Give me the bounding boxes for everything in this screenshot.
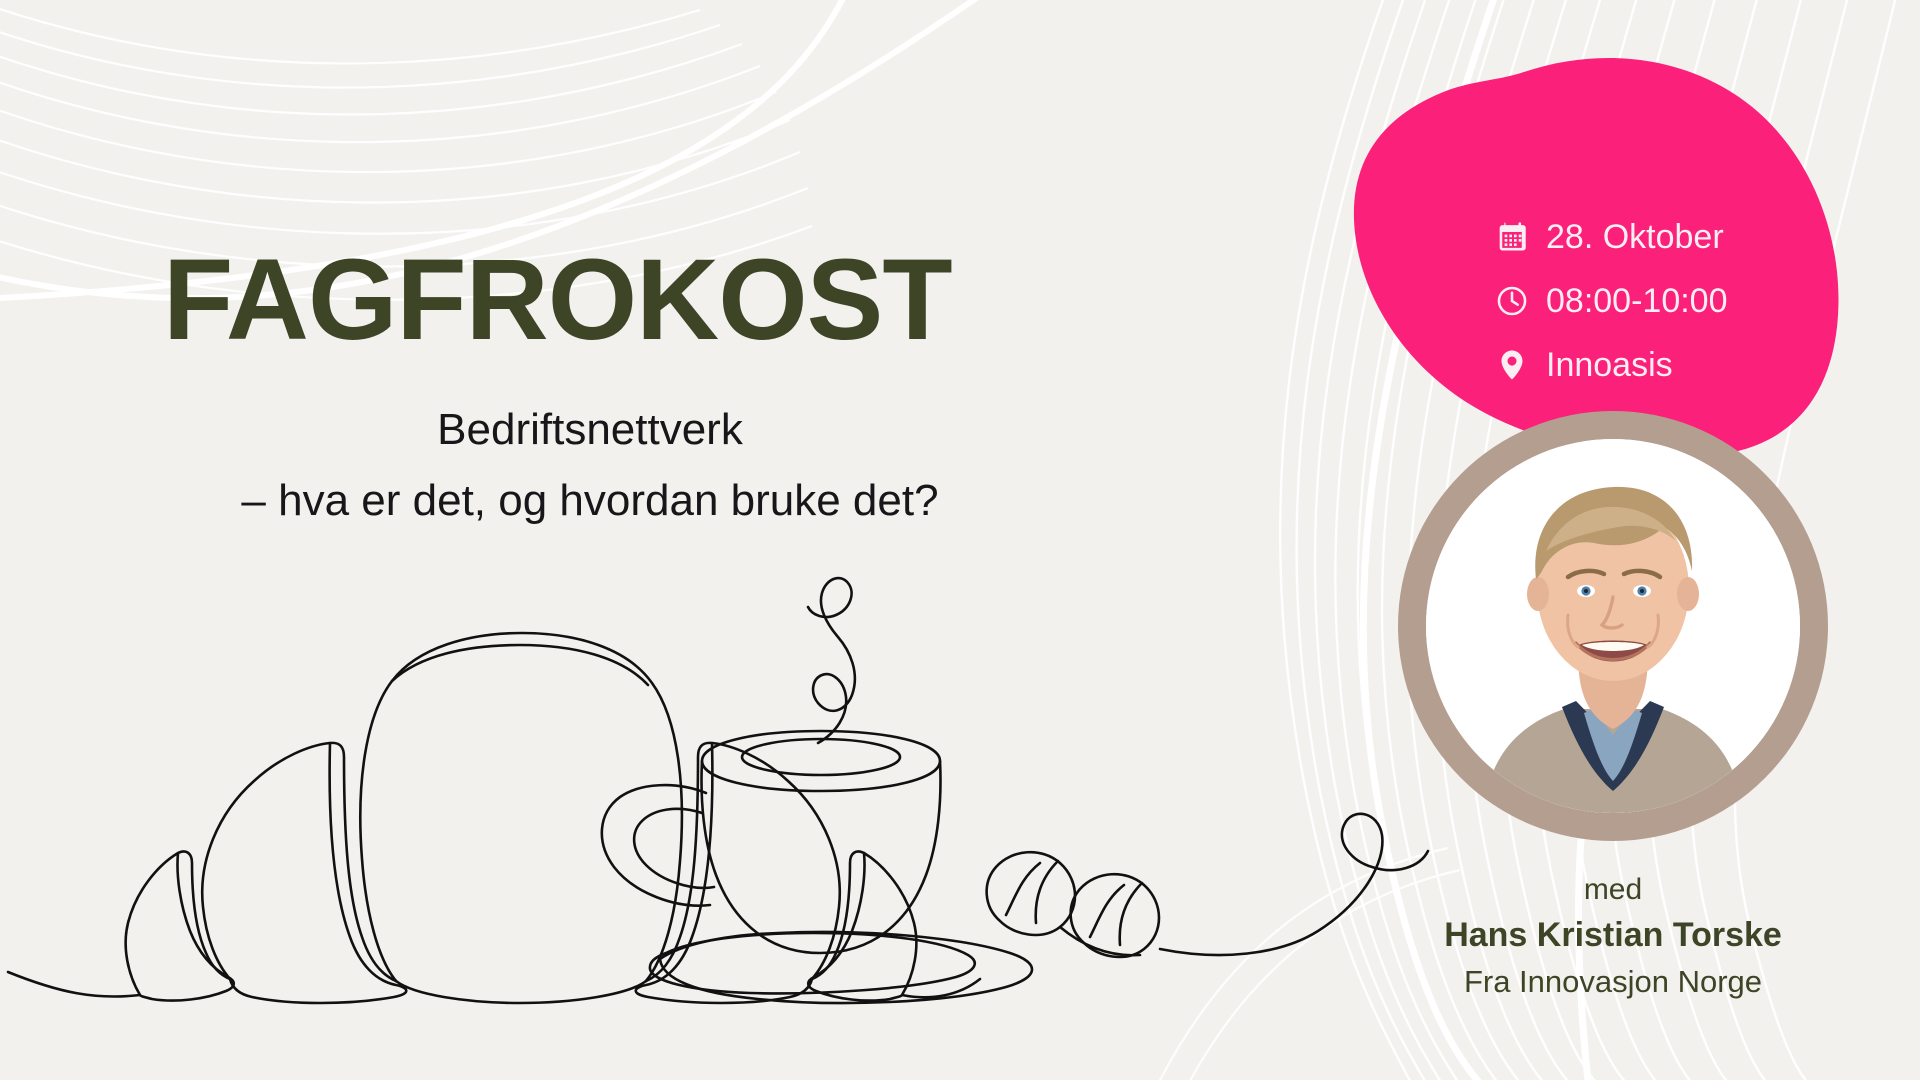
avatar [1398, 411, 1828, 841]
croissant-right-lobe [646, 743, 840, 981]
croissant-left-lobe [202, 743, 396, 981]
speaker-credit: med Hans Kristian Torske Fra Innovasjon … [1398, 870, 1828, 1003]
speaker-name: Hans Kristian Torske [1398, 911, 1828, 960]
event-poster: FAGFROKOST Bedriftsnettverk – hva er det… [0, 0, 1920, 1080]
event-time-text: 08:00-10:00 [1546, 284, 1728, 318]
location-pin-icon [1495, 348, 1529, 382]
page-title: FAGFROKOST [163, 243, 952, 358]
coffee-steam [808, 578, 855, 743]
poster-subtitle: Bedriftsnettverk – hva er det, og hvorda… [0, 400, 1180, 531]
event-location-text: Innoasis [1546, 348, 1673, 382]
event-details-badge: 28. Oktober 08:00-10:00 Innoasis [1345, 55, 1845, 455]
event-date-text: 28. Oktober [1546, 220, 1724, 254]
event-location-row: Innoasis [1495, 348, 1728, 382]
speaker-organization: Fra Innovasjon Norge [1398, 960, 1828, 1003]
coffee-beans [987, 852, 1159, 957]
event-date-row: 28. Oktober [1495, 220, 1728, 254]
croissant-center-body [360, 633, 682, 981]
calendar-icon [1495, 220, 1529, 254]
subtitle-line-2: – hva er det, og hvordan bruke det? [0, 471, 1180, 530]
breakfast-line-illustration [0, 575, 1430, 1045]
event-info-list: 28. Oktober 08:00-10:00 Innoasis [1495, 220, 1728, 382]
speaker-prefix: med [1398, 870, 1828, 911]
event-time-row: 08:00-10:00 [1495, 284, 1728, 318]
clock-icon [1495, 284, 1529, 318]
subtitle-line-1: Bedriftsnettverk [437, 405, 743, 454]
speaker-portrait-image [1426, 439, 1800, 813]
